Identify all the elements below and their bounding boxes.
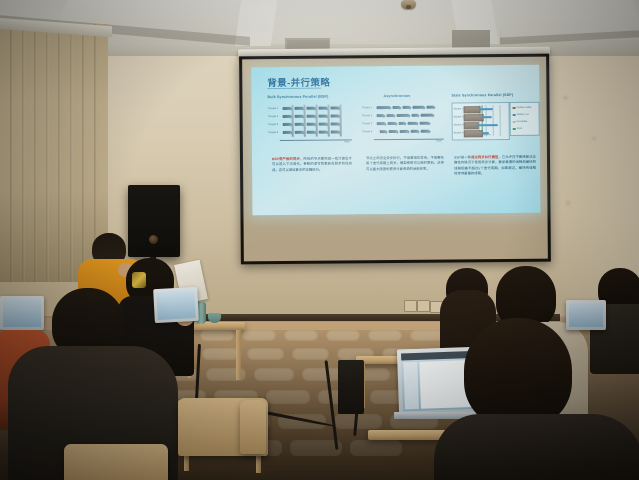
laptop[interactable] [153,287,199,323]
loudspeaker [128,185,180,257]
wall-socket[interactable] [404,300,417,312]
bsp-diagram: Thread 1 Thread 2 Thread 3 Thread 4 [268,104,354,145]
title-underline [267,88,321,89]
smoke-detector-icon [401,0,416,9]
projected-slide: 背景-并行策略 Bulk Synchronous Parallel (BSP) … [251,65,540,216]
bsp-header: Bulk Synchronous Parallel (BSP) [267,95,328,100]
ssp-x-axis-label: Iteration [483,134,491,136]
async-header: Asynchronous [383,94,410,98]
laptop-screen [156,290,195,320]
column-async: Asynchronous Thread 1 Thread 2 Thread 3 … [361,94,445,95]
bsp-body-text: BSP是严格的同步，所有的节点都完成一批计算后才可以进入下次迭代，参数的读写和更… [272,156,352,173]
column-ssp: Stale Synchronous Parallel (SSP) Worker … [451,93,537,94]
chair [64,444,168,480]
ssp-header: Stale Synchronous Parallel (SSP) [451,93,513,98]
chair [240,400,266,454]
laptop[interactable] [566,300,606,330]
laptop[interactable] [0,296,44,330]
screenshot-root: 背景-并行策略 Bulk Synchronous Parallel (BSP) … [0,0,639,480]
laptop-screen [569,303,603,327]
projection-screen: 背景-并行策略 Bulk Synchronous Parallel (BSP) … [239,54,551,265]
bsp-axis-label: Time [344,140,350,143]
ssp-body-text: SSP是一种退过同步并行模型，它允许在不删除算法正确性的情况下使用异步计算，要求… [454,155,536,177]
speaker-cone-icon [149,235,158,244]
wall-socket[interactable] [417,300,430,312]
async-body-text: 节点之间完全异步执行，不需要相互等待，不需要在每个迭代周期上同步，模型参数可以随… [366,156,444,173]
laptop-screen [3,299,41,327]
torso [434,414,639,480]
ssp-chart: Worker 1 Worker 2 Worker 3 Worker 4 [452,102,510,141]
hair-clip [132,272,146,288]
column-bsp: Bulk Synchronous Parallel (BSP) Thread 1… [267,94,353,95]
equipment-box [338,360,364,414]
ssp-legend: Updates visible Visible to w1 Incomplete… [510,102,540,136]
async-diagram: Thread 1 Thread 2 Thread 3 Thread 4 [362,104,446,145]
head [464,318,572,428]
screen-surface: 背景-并行策略 Bulk Synchronous Parallel (BSP) … [242,57,548,262]
async-axis-label: Time [436,140,442,143]
